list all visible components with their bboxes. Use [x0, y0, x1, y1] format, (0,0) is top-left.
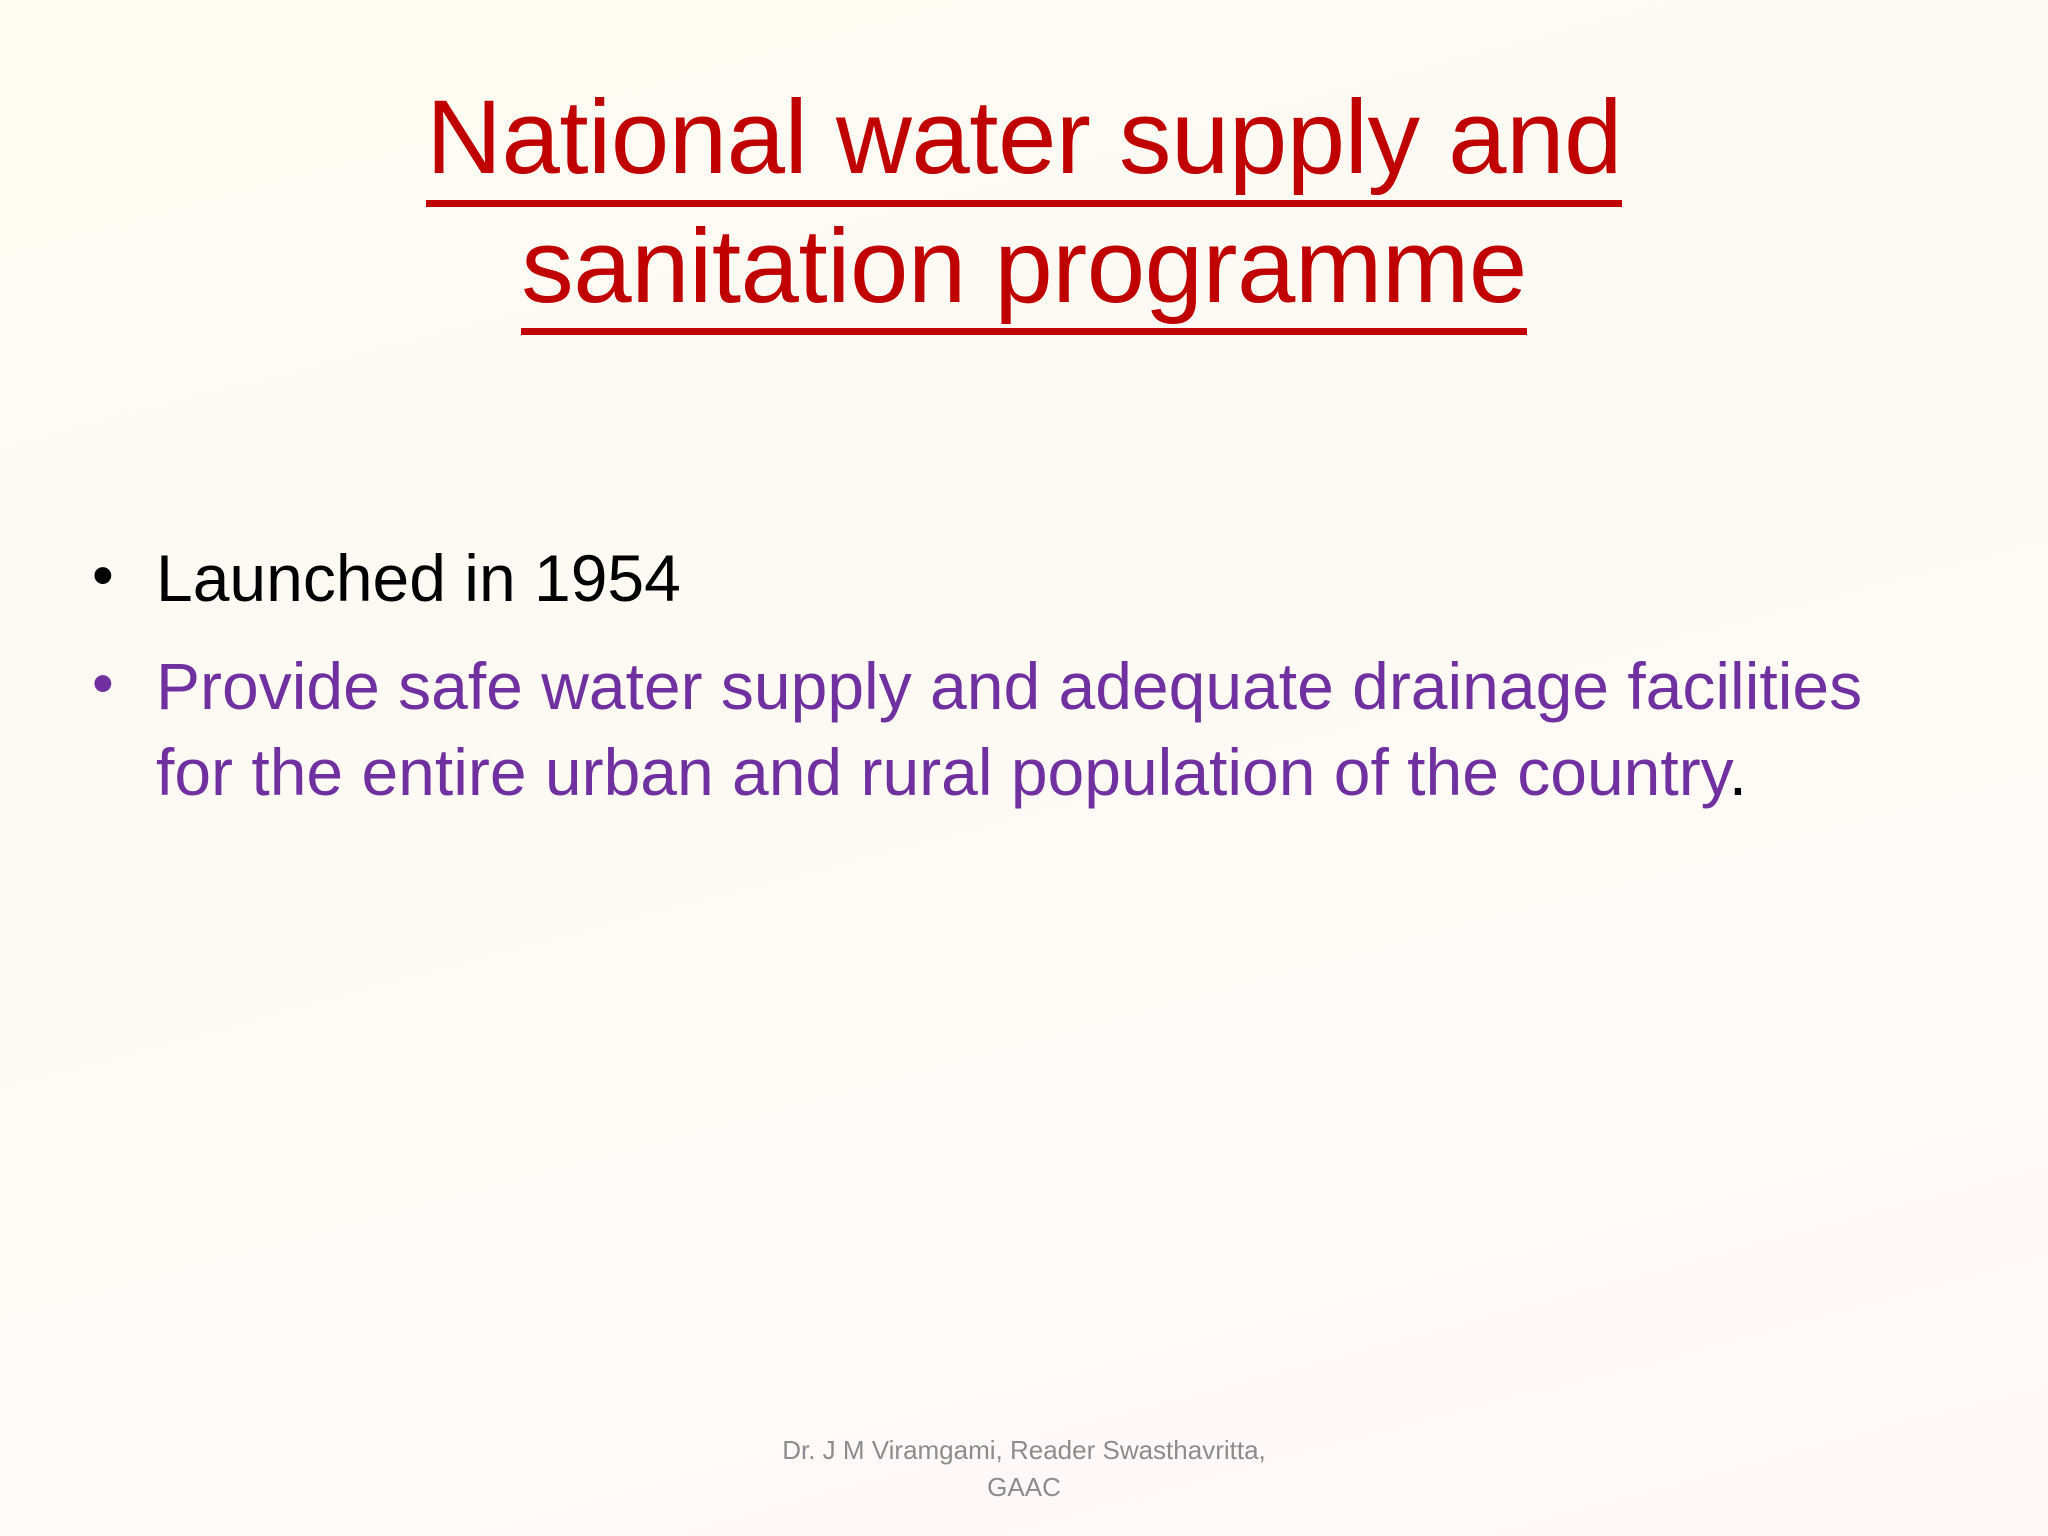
footer-line-1: Dr. J M Viramgami, Reader Swasthavritta, [0, 1432, 2048, 1469]
bullet-text-period: . [1729, 735, 1747, 809]
title-line-1: National water supply and [128, 78, 1920, 207]
bullet-point-icon: • [78, 536, 156, 617]
title-line-1-text: National water supply and [426, 78, 1622, 207]
slide-title: National water supply and sanitation pro… [128, 78, 1920, 335]
bullet-text: Provide safe water supply and adequate d… [156, 644, 1978, 816]
title-line-2-text: sanitation programme [521, 207, 1527, 336]
footer-line-2: GAAC [0, 1469, 2048, 1506]
title-line-2: sanitation programme [128, 207, 1920, 336]
presentation-slide: National water supply and sanitation pro… [0, 0, 2048, 1536]
bullet-item: • Launched in 1954 [78, 536, 1978, 622]
bullet-point-icon: • [78, 644, 156, 725]
bullet-text: Launched in 1954 [156, 536, 1978, 622]
bullet-item: • Provide safe water supply and adequate… [78, 644, 1978, 816]
bullet-text-main: Provide safe water supply and adequate d… [156, 649, 1862, 809]
slide-footer: Dr. J M Viramgami, Reader Swasthavritta,… [0, 1432, 2048, 1506]
slide-body: • Launched in 1954 • Provide safe water … [78, 536, 1978, 837]
